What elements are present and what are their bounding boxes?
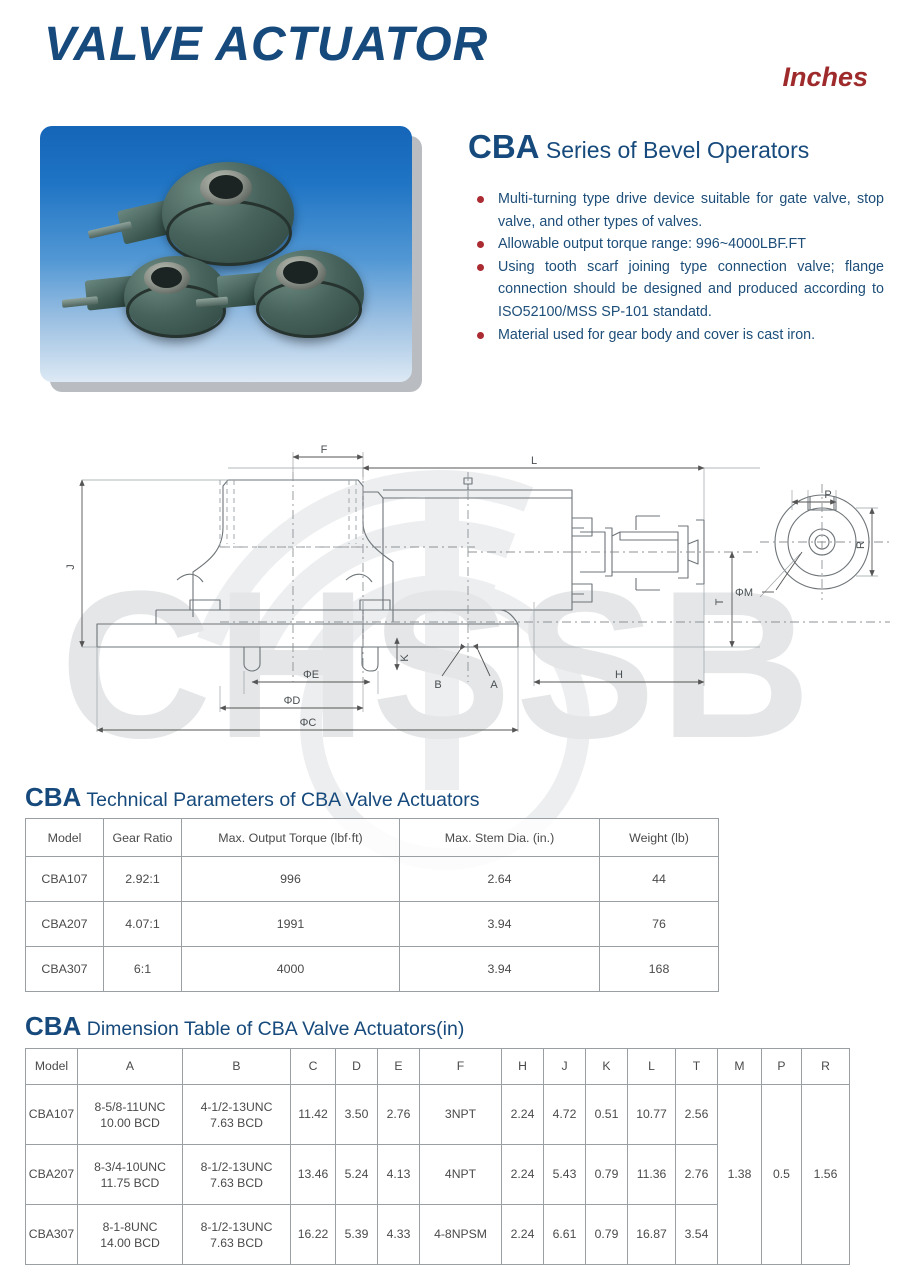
cell-M: 1.38 xyxy=(718,1085,762,1265)
tech-section-heading: CBA Technical Parameters of CBA Valve Ac… xyxy=(25,782,480,813)
dim-heading-title: Dimension Table of CBA Valve Actuators(i… xyxy=(81,1018,464,1040)
list-item: Multi-turning type drive device suitable… xyxy=(472,188,884,233)
cell-weight: 168 xyxy=(600,947,719,992)
cell-B: 8-1/2-13UNC 7.63 BCD xyxy=(183,1145,291,1205)
cell-A-line1: 8-1-8UNC xyxy=(103,1220,158,1234)
table-row: CBA207 4.07:1 1991 3.94 76 xyxy=(26,902,719,947)
cell-model: CBA307 xyxy=(26,947,104,992)
cell-D: 5.24 xyxy=(336,1145,378,1205)
dim-label-phiD: ΦD xyxy=(284,695,301,707)
cell-stem-dia: 3.94 xyxy=(400,902,600,947)
col-weight: Weight (lb) xyxy=(600,819,719,857)
cell-J: 6.61 xyxy=(544,1205,586,1265)
product-photo xyxy=(40,126,412,382)
cell-E: 4.13 xyxy=(378,1145,420,1205)
cell-model: CBA207 xyxy=(26,902,104,947)
col-model: Model xyxy=(26,1049,78,1085)
col-gear-ratio: Gear Ratio xyxy=(104,819,182,857)
cell-A: 8-3/4-10UNC 11.75 BCD xyxy=(78,1145,183,1205)
cell-K: 0.51 xyxy=(586,1085,628,1145)
cell-F: 4NPT xyxy=(420,1145,502,1205)
photo-image xyxy=(40,126,412,382)
cell-model: CBA107 xyxy=(26,1085,78,1145)
cell-D: 5.39 xyxy=(336,1205,378,1265)
series-code: CBA xyxy=(468,128,540,165)
dim-heading-code: CBA xyxy=(25,1011,81,1041)
cell-model: CBA207 xyxy=(26,1145,78,1205)
cell-B-line2: 7.63 BCD xyxy=(210,1176,263,1190)
col-torque: Max. Output Torque (lbf·ft) xyxy=(182,819,400,857)
technical-parameters-table: Model Gear Ratio Max. Output Torque (lbf… xyxy=(25,818,719,992)
list-item: Material used for gear body and cover is… xyxy=(472,324,884,347)
cell-model: CBA107 xyxy=(26,857,104,902)
cell-stem-dia: 2.64 xyxy=(400,857,600,902)
cell-F: 4-8NPSM xyxy=(420,1205,502,1265)
feature-list: Multi-turning type drive device suitable… xyxy=(472,188,884,346)
cell-A-line1: 8-5/8-11UNC xyxy=(95,1100,166,1114)
series-heading: CBA Series of Bevel Operators xyxy=(468,128,809,166)
col-H: H xyxy=(502,1049,544,1085)
cell-stem-dia: 3.94 xyxy=(400,947,600,992)
col-T: T xyxy=(676,1049,718,1085)
cell-P: 0.5 xyxy=(762,1085,802,1265)
col-J: J xyxy=(544,1049,586,1085)
cell-D: 3.50 xyxy=(336,1085,378,1145)
cell-T: 3.54 xyxy=(676,1205,718,1265)
dim-section-heading: CBA Dimension Table of CBA Valve Actuato… xyxy=(25,1011,464,1042)
cell-J: 4.72 xyxy=(544,1085,586,1145)
list-item: Allowable output torque range: 996~4000L… xyxy=(472,233,884,256)
col-B: B xyxy=(183,1049,291,1085)
col-C: C xyxy=(291,1049,336,1085)
cell-K: 0.79 xyxy=(586,1145,628,1205)
dim-label-P: P xyxy=(824,489,831,501)
col-F: F xyxy=(420,1049,502,1085)
cell-A-line2: 14.00 BCD xyxy=(100,1236,160,1250)
col-A: A xyxy=(78,1049,183,1085)
table-header-row: Model A B C D E F H J K L T M P R xyxy=(26,1049,850,1085)
cell-gear-ratio: 4.07:1 xyxy=(104,902,182,947)
cell-R: 1.56 xyxy=(802,1085,850,1265)
dim-label-F: F xyxy=(321,444,328,456)
technical-drawing: F L J ΦE ΦD ΦC K H T P R ΦM B A xyxy=(60,432,890,752)
cell-K: 0.79 xyxy=(586,1205,628,1265)
cell-torque: 4000 xyxy=(182,947,400,992)
cell-A-line2: 11.75 BCD xyxy=(101,1176,160,1190)
col-stem-dia: Max. Stem Dia. (in.) xyxy=(400,819,600,857)
cell-H: 2.24 xyxy=(502,1205,544,1265)
cell-gear-ratio: 6:1 xyxy=(104,947,182,992)
cell-weight: 76 xyxy=(600,902,719,947)
dim-label-phiM: ΦM xyxy=(735,587,753,599)
cell-T: 2.56 xyxy=(676,1085,718,1145)
cell-A-line1: 8-3/4-10UNC xyxy=(94,1160,166,1174)
cell-B: 8-1/2-13UNC 7.63 BCD xyxy=(183,1205,291,1265)
table-row: CBA307 6:1 4000 3.94 168 xyxy=(26,947,719,992)
col-M: M xyxy=(718,1049,762,1085)
cell-E: 2.76 xyxy=(378,1085,420,1145)
col-P: P xyxy=(762,1049,802,1085)
cell-torque: 996 xyxy=(182,857,400,902)
col-L: L xyxy=(628,1049,676,1085)
cell-F: 3NPT xyxy=(420,1085,502,1145)
col-model: Model xyxy=(26,819,104,857)
cell-A-line2: 10.00 BCD xyxy=(100,1116,160,1130)
cell-T: 2.76 xyxy=(676,1145,718,1205)
cell-L: 11.36 xyxy=(628,1145,676,1205)
dim-label-L: L xyxy=(531,455,537,467)
cell-B: 4-1/2-13UNC 7.63 BCD xyxy=(183,1085,291,1145)
table-header-row: Model Gear Ratio Max. Output Torque (lbf… xyxy=(26,819,719,857)
cell-B-line1: 8-1/2-13UNC xyxy=(201,1220,273,1234)
cell-E: 4.33 xyxy=(378,1205,420,1265)
dim-label-B: B xyxy=(434,679,441,691)
series-description: Series of Bevel Operators xyxy=(540,137,810,163)
cell-weight: 44 xyxy=(600,857,719,902)
cell-H: 2.24 xyxy=(502,1145,544,1205)
col-E: E xyxy=(378,1049,420,1085)
cell-J: 5.43 xyxy=(544,1145,586,1205)
cell-A: 8-5/8-11UNC 10.00 BCD xyxy=(78,1085,183,1145)
table-row: CBA107 2.92:1 996 2.64 44 xyxy=(26,857,719,902)
dim-label-H: H xyxy=(615,669,623,681)
unit-label: Inches xyxy=(782,62,868,93)
cell-L: 16.87 xyxy=(628,1205,676,1265)
cell-B-line1: 4-1/2-13UNC xyxy=(201,1100,273,1114)
cell-gear-ratio: 2.92:1 xyxy=(104,857,182,902)
dimension-table: Model A B C D E F H J K L T M P R CBA107… xyxy=(25,1048,850,1265)
dim-label-R: R xyxy=(855,541,867,549)
cell-C: 13.46 xyxy=(291,1145,336,1205)
dim-label-phiE: ΦE xyxy=(303,669,319,681)
dim-label-J: J xyxy=(65,564,77,570)
dim-label-A: A xyxy=(490,679,498,691)
cell-C: 16.22 xyxy=(291,1205,336,1265)
cell-B-line1: 8-1/2-13UNC xyxy=(201,1160,273,1174)
table-row: CBA107 8-5/8-11UNC 10.00 BCD 4-1/2-13UNC… xyxy=(26,1085,850,1145)
cell-L: 10.77 xyxy=(628,1085,676,1145)
list-item: Using tooth scarf joining type connectio… xyxy=(472,256,884,324)
tech-heading-title: Technical Parameters of CBA Valve Actuat… xyxy=(81,789,479,811)
cell-H: 2.24 xyxy=(502,1085,544,1145)
page-title: VALVE ACTUATOR xyxy=(44,17,488,72)
dim-label-T: T xyxy=(714,598,726,605)
cell-B-line2: 7.63 BCD xyxy=(210,1236,263,1250)
col-D: D xyxy=(336,1049,378,1085)
cell-torque: 1991 xyxy=(182,902,400,947)
col-K: K xyxy=(586,1049,628,1085)
tech-heading-code: CBA xyxy=(25,782,81,812)
cell-C: 11.42 xyxy=(291,1085,336,1145)
cell-B-line2: 7.63 BCD xyxy=(210,1116,263,1130)
cell-model: CBA307 xyxy=(26,1205,78,1265)
dim-label-phiC: ΦC xyxy=(300,717,317,729)
col-R: R xyxy=(802,1049,850,1085)
cell-A: 8-1-8UNC 14.00 BCD xyxy=(78,1205,183,1265)
dim-label-K: K xyxy=(399,654,411,662)
